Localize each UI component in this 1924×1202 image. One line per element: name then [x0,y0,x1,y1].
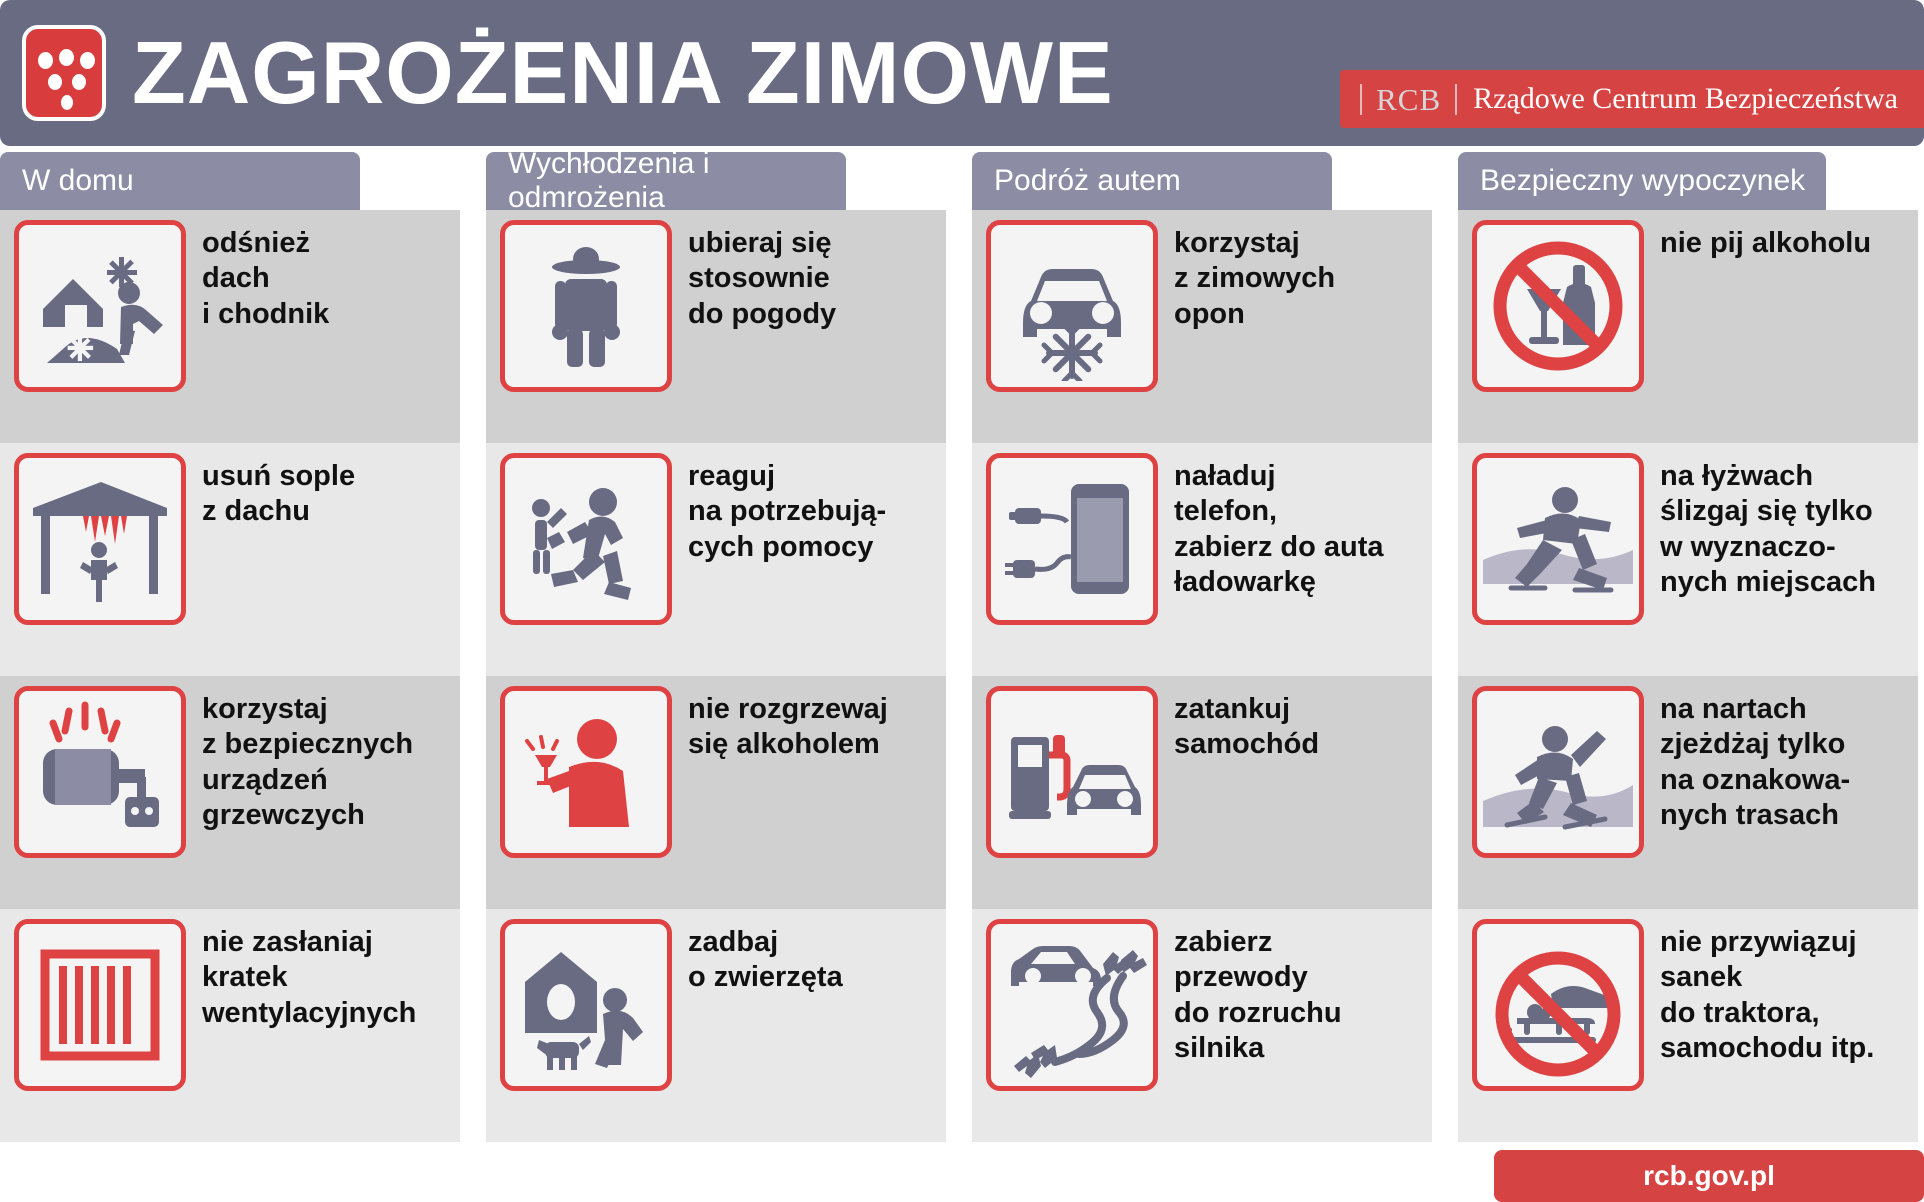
column-wychlodzenia: Wychłodzenia i odmrożenia [486,152,946,1142]
list-item-label: zatankuj samochód [1174,686,1319,763]
list-item: nie pij alkoholu [1458,210,1918,443]
list-item: korzystaj z bezpiecznych urządzeń grzewc… [0,676,460,909]
list-item-label: korzystaj z bezpiecznych urządzeń grzewc… [202,686,413,834]
list-item: na nartach zjeżdżaj tylko na oznakowa- n… [1458,676,1918,909]
rcb-dots-badge-icon [22,25,106,121]
column-header-wychlodzenia: Wychłodzenia i odmrożenia [486,152,846,210]
website-label: rcb.gov.pl [1643,1160,1775,1192]
list-item-label: reaguj na potrzebują- cych pomocy [688,453,886,565]
column-body-podroz-autem: korzystaj z zimowych opon [972,210,1432,1142]
list-item: nie rozgrzewaj się alkoholem [486,676,946,909]
list-item: zadbaj o zwierzęta [486,909,946,1142]
no-alcohol-warming-icon [500,686,672,858]
list-item-label: usuń sople z dachu [202,453,355,530]
column-body-w-domu: odśnież dach i chodnik [0,210,460,1142]
fuel-pump-car-icon [986,686,1158,858]
list-item: naładuj telefon, zabierz do auta ładowar… [972,443,1432,676]
skier-icon [1472,686,1644,858]
jumper-cables-car-icon [986,919,1158,1091]
list-item: nie zasłaniaj kratek wentylacyjnych [0,909,460,1142]
person-warm-clothes-icon [500,220,672,392]
list-item: na łyżwach ślizgaj się tylko w wyznaczo-… [1458,443,1918,676]
website-link-button[interactable]: rcb.gov.pl [1494,1150,1924,1202]
list-item-label: ubieraj się stosownie do pogody [688,220,836,332]
page-header: ZAGROŻENIA ZIMOWE RCB Rządowe Centrum Be… [0,0,1924,146]
list-item-label: nie zasłaniaj kratek wentylacyjnych [202,919,416,1031]
list-item-label: na łyżwach ślizgaj się tylko w wyznaczo-… [1660,453,1876,601]
list-item: zatankuj samochód [972,676,1432,909]
house-snow-shoveling-icon [14,220,186,392]
column-header-w-domu: W domu [0,152,360,210]
list-item: korzystaj z zimowych opon [972,210,1432,443]
list-item: nie przywiązuj sanek do traktora, samoch… [1458,909,1918,1142]
list-item-label: na nartach zjeżdżaj tylko na oznakowa- n… [1660,686,1850,834]
page-title: ZAGROŻENIA ZIMOWE [132,29,1114,117]
rcb-abbreviation: RCB [1360,84,1457,115]
list-item: usuń sople z dachu [0,443,460,676]
rcb-logo-bar: RCB Rządowe Centrum Bezpieczeństwa [1340,70,1924,128]
list-item-label: naładuj telefon, zabierz do auta ładowar… [1174,453,1384,601]
list-item: odśnież dach i chodnik [0,210,460,443]
column-header-bezpieczny-wypoczynek: Bezpieczny wypoczynek [1458,152,1826,210]
column-w-domu: W domu [0,152,460,1142]
list-item: ubieraj się stosownie do pogody [486,210,946,443]
list-item-label: nie pij alkoholu [1660,220,1871,261]
gas-heater-plug-icon [14,686,186,858]
column-header-podroz-autem: Podróż autem [972,152,1332,210]
no-sled-towing-icon [1472,919,1644,1091]
person-helping-running-icon [500,453,672,625]
column-body-bezpieczny-wypoczynek: nie pij alkoholu [1458,210,1918,1142]
car-snowflake-tires-icon [986,220,1158,392]
column-podroz-autem: Podróż autem [972,152,1432,1142]
column-body-wychlodzenia: ubieraj się stosownie do pogody [486,210,946,1142]
list-item-label: odśnież dach i chodnik [202,220,329,332]
pet-care-kennel-icon [500,919,672,1091]
list-item-label: zadbaj o zwierzęta [688,919,843,996]
no-alcohol-bottle-glass-icon [1472,220,1644,392]
infographic-page: ZAGROŻENIA ZIMOWE RCB Rządowe Centrum Be… [0,0,1924,1202]
roof-icicles-icon [14,453,186,625]
list-item-label: zabierz przewody do rozruchu silnika [1174,919,1342,1067]
list-item-label: korzystaj z zimowych opon [1174,220,1335,332]
list-item: reaguj na potrzebują- cych pomocy [486,443,946,676]
ice-skater-icon [1472,453,1644,625]
rcb-full-name: Rządowe Centrum Bezpieczeństwa [1473,84,1898,114]
list-item-label: nie rozgrzewaj się alkoholem [688,686,888,763]
list-item-label: nie przywiązuj sanek do traktora, samoch… [1660,919,1874,1067]
ventilation-grille-icon [14,919,186,1091]
columns-container: W domu [0,152,1924,1142]
list-item: zabierz przewody do rozruchu silnika [972,909,1432,1142]
column-bezpieczny-wypoczynek: Bezpieczny wypoczynek [1458,152,1918,1142]
phone-charger-icon [986,453,1158,625]
